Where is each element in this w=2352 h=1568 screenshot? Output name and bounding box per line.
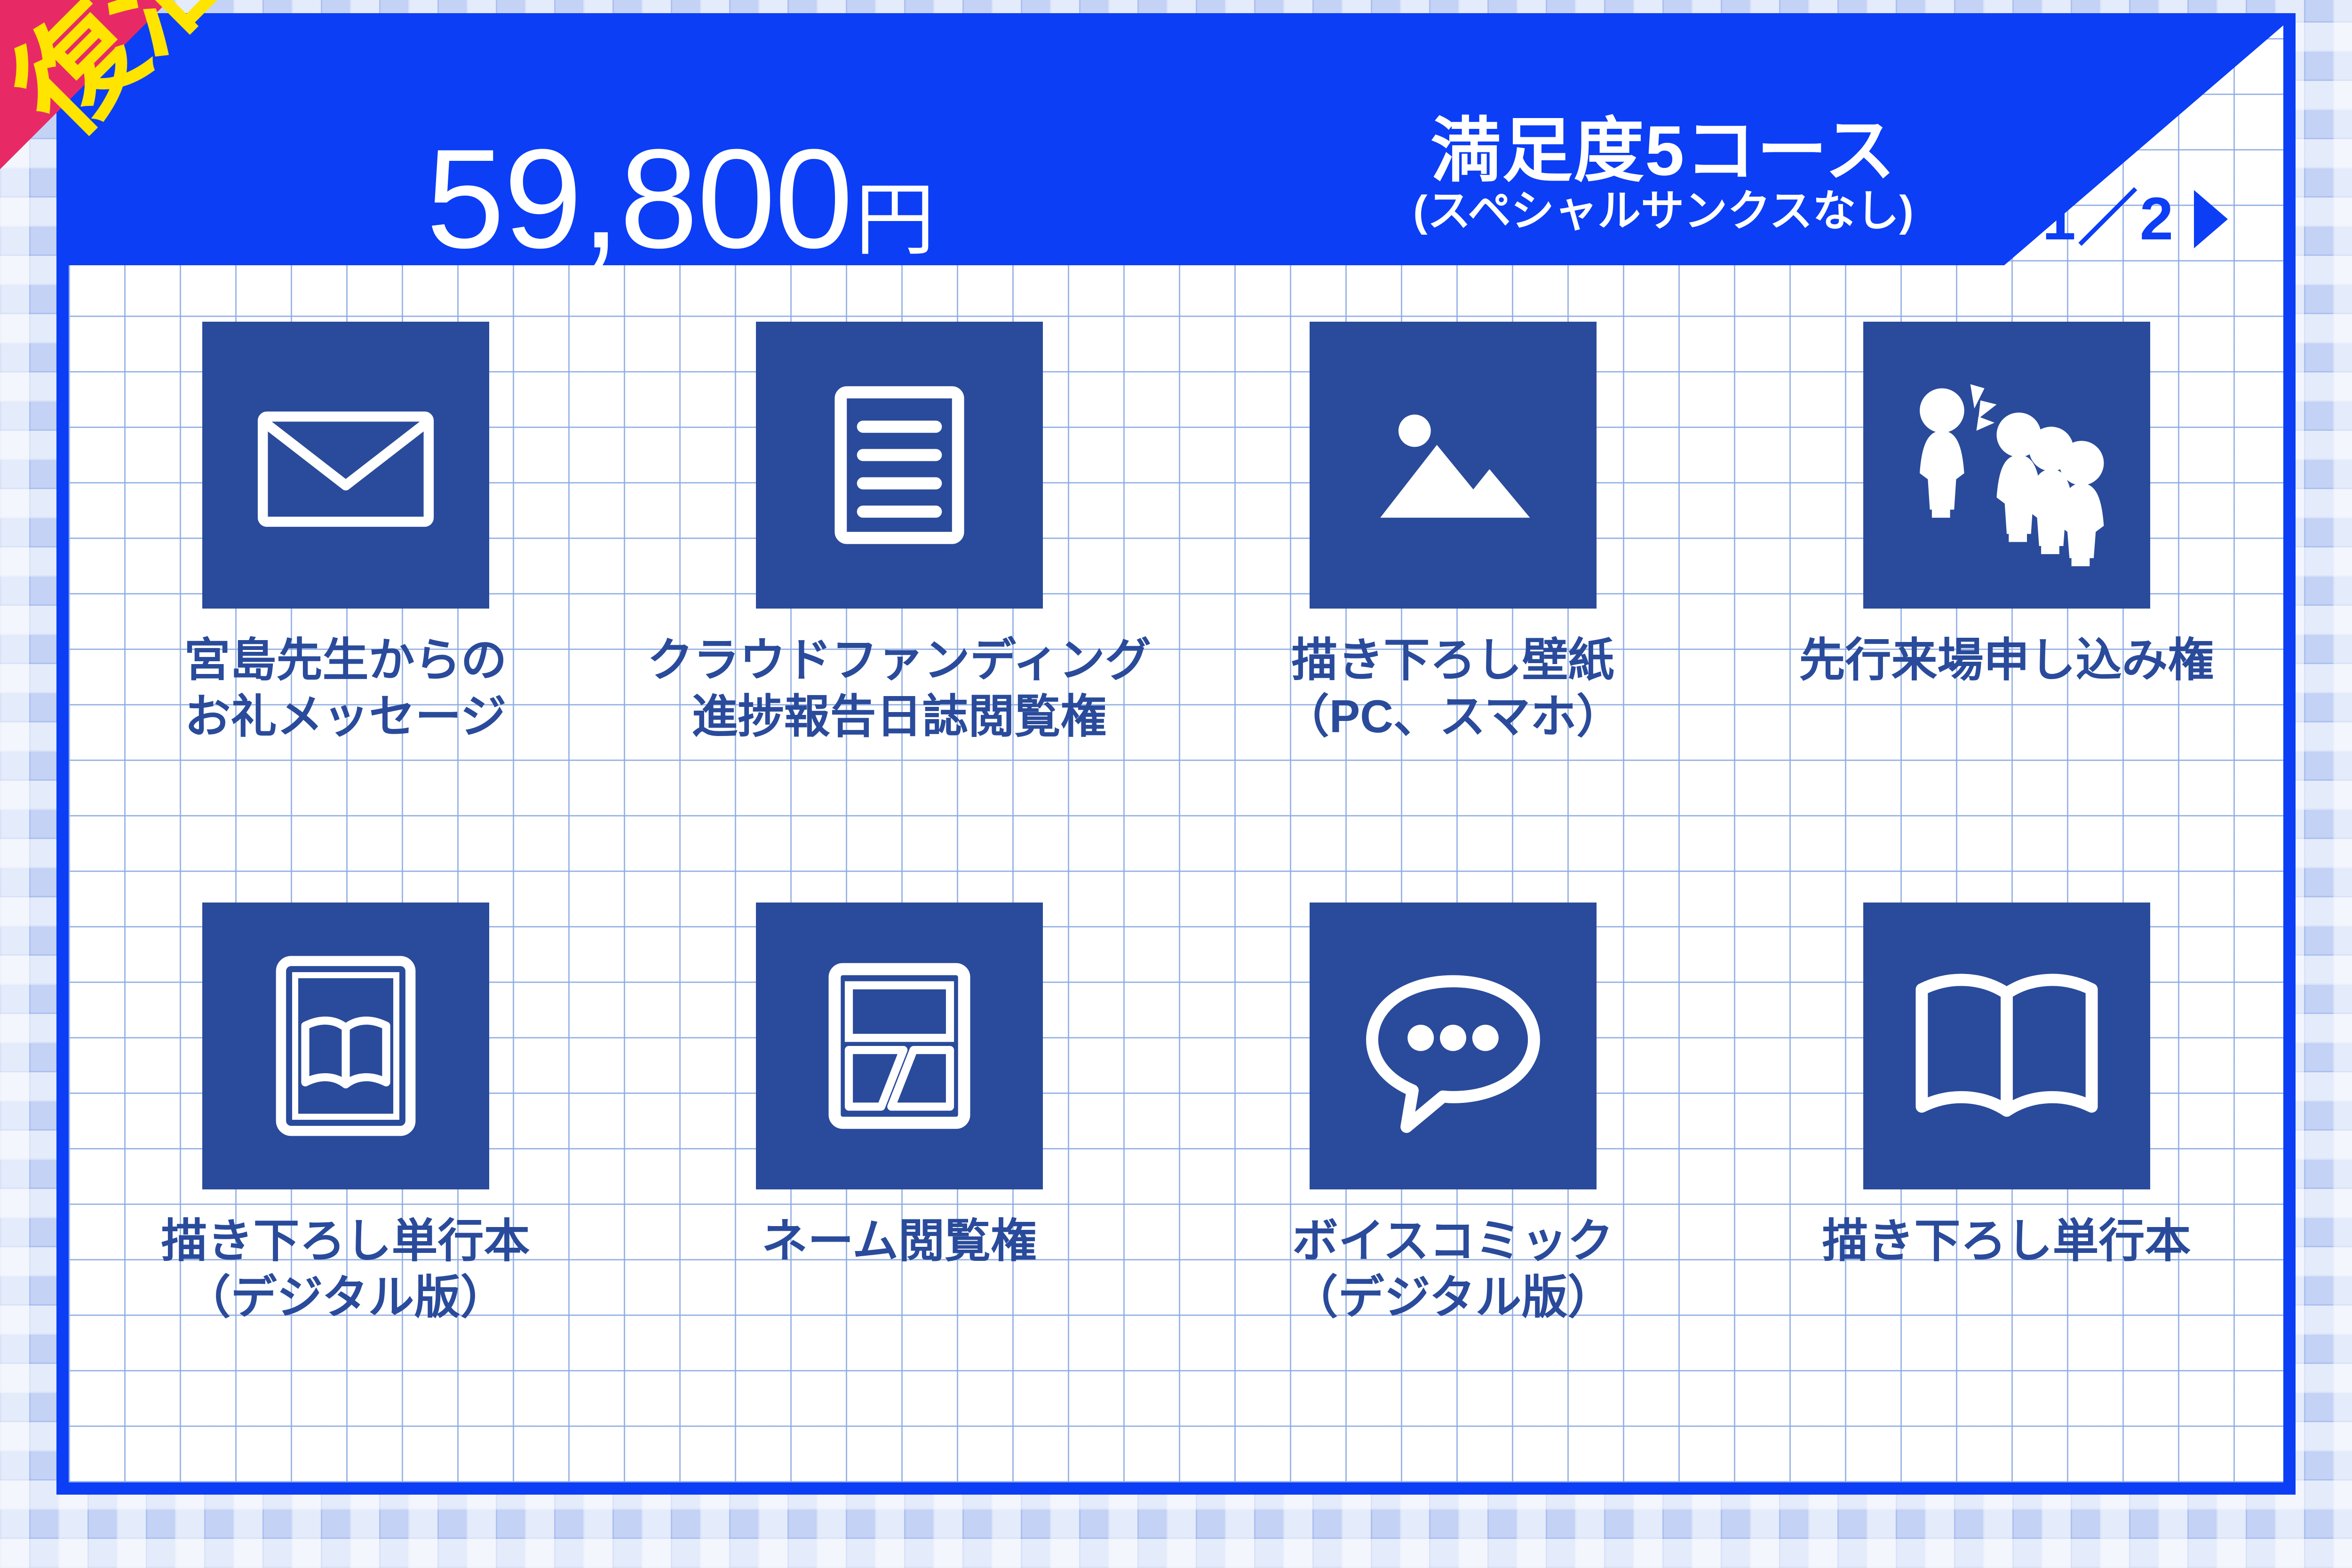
reward-label: ボイスコミック （デジタル版） xyxy=(1292,1213,1613,1325)
reward-item-3[interactable]: 描き下ろし壁紙 （PC、スマホ） xyxy=(1176,289,1730,870)
page-indicator: 1／2 xyxy=(2042,189,2175,249)
reward-label: 先行来場申し込み権 xyxy=(1799,632,2214,689)
reward-icon-tile xyxy=(1310,903,1597,1189)
reward-label: 宮島先生からの お礼メッセージ xyxy=(184,632,507,744)
open-book-icon xyxy=(1906,945,2108,1147)
document-lines-icon xyxy=(798,364,1001,566)
reward-grid: 宮島先生からの お礼メッセージ クラウドファンディング 進捗報告日誌閲覧権 xyxy=(69,289,2283,1450)
reward-icon-tile xyxy=(1863,903,2150,1189)
reward-item-7[interactable]: ボイスコミック （デジタル版） xyxy=(1176,870,1730,1450)
price-currency-unit: 円 xyxy=(855,180,935,260)
price-display: 59,800 円 xyxy=(426,128,935,269)
triangle-left-icon[interactable] xyxy=(1990,190,2024,248)
reward-item-2[interactable]: クラウドファンディング 進捗報告日誌閲覧権 xyxy=(622,289,1176,870)
reward-item-5[interactable]: 描き下ろし単行本 （デジタル版） xyxy=(69,870,622,1450)
reward-item-1[interactable]: 宮島先生からの お礼メッセージ xyxy=(69,289,622,870)
reward-icon-tile xyxy=(756,322,1043,609)
reward-icon-tile xyxy=(1310,322,1597,609)
reward-label: クラウドファンディング 進捗報告日誌閲覧権 xyxy=(647,632,1151,744)
reward-icon-tile xyxy=(202,903,489,1189)
tablet-book-icon xyxy=(245,945,447,1147)
reward-label: 描き下ろし壁紙 （PC、スマホ） xyxy=(1283,632,1622,744)
triangle-right-icon[interactable] xyxy=(2194,190,2228,248)
reward-icon-tile xyxy=(202,322,489,609)
reward-item-6[interactable]: ネーム閲覧権 xyxy=(622,870,1176,1450)
course-title: 満足度5コース xyxy=(1311,115,2016,187)
speech-bubble-icon xyxy=(1352,945,1554,1147)
course-subtitle: (スペシャルサンクスなし) xyxy=(1311,190,2016,234)
pagination-control[interactable]: 1／2 xyxy=(1990,189,2228,249)
reward-label: 描き下ろし単行本 （デジタル版） xyxy=(161,1213,530,1325)
course-title-block: 満足度5コース (スペシャルサンクスなし) xyxy=(1311,115,2016,234)
manga-panels-icon xyxy=(798,945,1001,1147)
reward-icon-tile xyxy=(756,903,1043,1189)
image-mountain-icon xyxy=(1352,364,1554,566)
envelope-icon xyxy=(245,364,447,566)
reward-label: 描き下ろし単行本 xyxy=(1822,1213,2191,1269)
reward-icon-tile xyxy=(1863,322,2150,609)
price-amount: 59,800 xyxy=(426,128,852,269)
content-panel: 59,800 円 満足度5コース (スペシャルサンクスなし) 1／2 宮島 xyxy=(56,13,2296,1495)
poster-canvas: 59,800 円 満足度5コース (スペシャルサンクスなし) 1／2 宮島 xyxy=(0,0,2352,1568)
priority-queue-people-icon xyxy=(1906,364,2108,566)
reward-item-8[interactable]: 描き下ろし単行本 xyxy=(1730,870,2283,1450)
reward-item-4[interactable]: 先行来場申し込み権 xyxy=(1730,289,2283,870)
reward-label: ネーム閲覧権 xyxy=(762,1213,1037,1269)
